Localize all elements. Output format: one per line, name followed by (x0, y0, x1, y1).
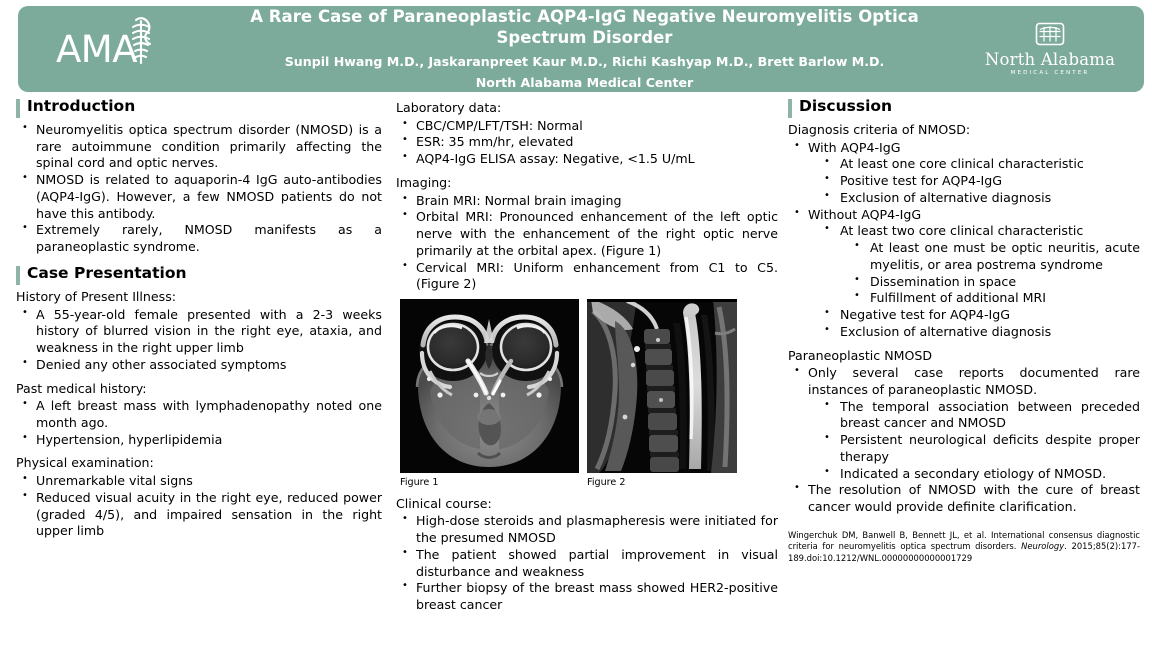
list-item: A left breast mass with lymphadenopathy … (16, 398, 382, 431)
imaging-bullet-list: Brain MRI: Normal brain imaging Orbital … (396, 193, 778, 293)
list-item: Orbital MRI: Pronounced enhancement of t… (396, 209, 778, 259)
paraneoplastic-conclusion-list: The resolution of NMOSD with the cure of… (788, 482, 1140, 515)
axial-orbital-mri-image (400, 299, 579, 473)
list-item: With AQP4-IgG (788, 140, 1140, 157)
poster-header-banner: AMA (18, 6, 1144, 92)
ama-logo: AMA (56, 23, 171, 75)
spacer (16, 374, 382, 379)
figure-1-caption: Figure 1 (400, 477, 579, 489)
criteria-label: Diagnosis criteria of NMOSD: (788, 122, 1140, 139)
section-introduction-heading: Introduction (16, 98, 382, 118)
list-item: AQP4-IgG ELISA assay: Negative, <1.5 U/m… (396, 151, 778, 168)
list-item: Without AQP4-IgG (788, 207, 1140, 224)
list-item: Positive test for AQP4-IgG (788, 173, 1140, 190)
sagittal-cervical-mri-image (587, 299, 737, 473)
middle-column: Laboratory data: CBC/CMP/LFT/TSH: Normal… (396, 98, 788, 648)
conference-poster: AMA (0, 0, 1152, 648)
list-item: At least two core clinical characteristi… (788, 223, 1140, 240)
list-item: At least one core clinical characteristi… (788, 156, 1140, 173)
subsection-label-clinical-course: Clinical course: (396, 496, 778, 513)
author-list: Sunpil Hwang M.D., Jaskaranpreet Kaur M.… (207, 54, 962, 70)
without-aqp4-sublist: At least two core clinical characteristi… (788, 223, 1140, 240)
list-item: Further biopsy of the breast mass showed… (396, 580, 778, 613)
paraneoplastic-list: Only several case reports documented rar… (788, 365, 1140, 398)
figure-gallery: Figure 1 (400, 299, 778, 489)
clinical-course-bullet-list: High-dose steroids and plasmapheresis we… (396, 513, 778, 613)
subsection-label-hpi: History of Present Illness: (16, 289, 382, 306)
spacer (16, 448, 382, 453)
figure-2-block: Figure 2 (587, 299, 737, 489)
poster-body: Introduction Neuromyelitis optica spectr… (0, 98, 1152, 648)
laboratory-bullet-list: CBC/CMP/LFT/TSH: Normal ESR: 35 mm/hr, e… (396, 118, 778, 168)
subsection-label-physical-exam: Physical examination: (16, 455, 382, 472)
caduceus-icon (124, 17, 158, 69)
list-item: ESR: 35 mm/hr, elevated (396, 134, 778, 151)
paraneoplastic-label: Paraneoplastic NMOSD (788, 348, 1140, 365)
list-item: CBC/CMP/LFT/TSH: Normal (396, 118, 778, 135)
reference-citation: Wingerchuk DM, Banwell B, Bennett JL, et… (788, 530, 1140, 565)
list-item: Brain MRI: Normal brain imaging (396, 193, 778, 210)
with-aqp4-sublist: At least one core clinical characteristi… (788, 156, 1140, 206)
list-item: Reduced visual acuity in the right eye, … (16, 490, 382, 540)
ama-logo-container: AMA (18, 6, 203, 92)
list-item: NMOSD is related to aquaporin-4 IgG auto… (16, 172, 382, 222)
section-title: Case Presentation (27, 265, 187, 283)
paraneoplastic-arrow-list: Indicated a secondary etiology of NMOSD. (788, 466, 1140, 483)
left-column: Introduction Neuromyelitis optica spectr… (0, 98, 396, 648)
spacer (396, 168, 778, 173)
list-item: Fulfillment of additional MRI (788, 290, 1140, 307)
list-item: Cervical MRI: Uniform enhancement from C… (396, 260, 778, 293)
subsection-label-pmh: Past medical history: (16, 381, 382, 398)
introduction-bullet-list: Neuromyelitis optica spectrum disorder (… (16, 122, 382, 256)
physical-exam-bullet-list: Unremarkable vital signs Reduced visual … (16, 473, 382, 540)
list-item: Extremely rarely, NMOSD manifests as a p… (16, 222, 382, 255)
section-accent-bar (16, 99, 20, 118)
list-item: Negative test for AQP4-IgG (788, 307, 1140, 324)
subsection-label-laboratory: Laboratory data: (396, 100, 778, 117)
list-item: Only several case reports documented rar… (788, 365, 1140, 398)
paraneoplastic-sublist: The temporal association between precede… (788, 399, 1140, 466)
spacer (788, 341, 1140, 346)
hpi-bullet-list: A 55-year-old female presented with a 2-… (16, 307, 382, 374)
list-item: The patient showed partial improvement i… (396, 547, 778, 580)
pmh-bullet-list: A left breast mass with lymphadenopathy … (16, 398, 382, 448)
list-item: Neuromyelitis optica spectrum disorder (… (16, 122, 382, 172)
list-item: Dissemination in space (788, 274, 1140, 291)
north-alabama-subtitle: MEDICAL CENTER (1011, 70, 1090, 76)
list-item: Exclusion of alternative diagnosis (788, 190, 1140, 207)
section-title: Introduction (27, 98, 135, 116)
list-item: The resolution of NMOSD with the cure of… (788, 482, 1140, 515)
list-item: Persistent neurological deficits despite… (788, 432, 1140, 465)
section-case-presentation-heading: Case Presentation (16, 265, 382, 285)
poster-title-block: A Rare Case of Paraneoplastic AQP4-IgG N… (203, 7, 966, 91)
arrow-list-item: Indicated a secondary etiology of NMOSD. (788, 466, 1140, 483)
reference-journal: Neurology (1021, 541, 1064, 551)
building-mark-icon (1035, 22, 1065, 50)
section-title: Discussion (799, 98, 892, 116)
list-item: The temporal association between precede… (788, 399, 1140, 432)
subsection-label-imaging: Imaging: (396, 175, 778, 192)
list-item: Hypertension, hyperlipidemia (16, 432, 382, 449)
list-item: Unremarkable vital signs (16, 473, 382, 490)
list-item: Exclusion of alternative diagnosis (788, 324, 1140, 341)
section-accent-bar (788, 99, 792, 118)
right-column: Discussion Diagnosis criteria of NMOSD: … (788, 98, 1152, 648)
north-alabama-logo-container: North Alabama MEDICAL CENTER (966, 6, 1144, 92)
page-title: A Rare Case of Paraneoplastic AQP4-IgG N… (207, 7, 962, 48)
without-aqp4-tail-list: Negative test for AQP4-IgG Exclusion of … (788, 307, 1140, 340)
with-aqp4-list: With AQP4-IgG (788, 140, 1140, 157)
figure-2-caption: Figure 2 (587, 477, 737, 489)
section-accent-bar (16, 266, 20, 285)
list-item: A 55-year-old female presented with a 2-… (16, 307, 382, 357)
north-alabama-name: North Alabama (985, 52, 1115, 69)
affiliation: North Alabama Medical Center (207, 75, 962, 91)
list-item: Denied any other associated symptoms (16, 357, 382, 374)
section-discussion-heading: Discussion (788, 98, 1140, 118)
without-aqp4-list: Without AQP4-IgG (788, 207, 1140, 224)
without-aqp4-subsublist: At least one must be optic neuritis, acu… (788, 240, 1140, 307)
list-item: At least one must be optic neuritis, acu… (788, 240, 1140, 273)
figure-1-block: Figure 1 (400, 299, 579, 489)
list-item: High-dose steroids and plasmapheresis we… (396, 513, 778, 546)
